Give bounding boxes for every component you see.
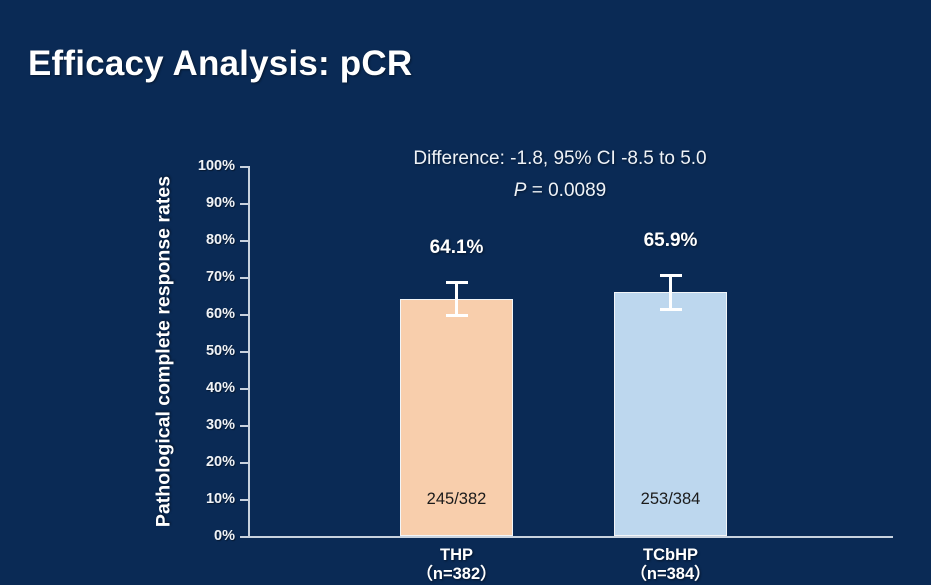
x-category-name: THP [360,546,553,565]
plot-region: 0%10%20%30%40%50%60%70%80%90%100% 245/38… [248,166,893,536]
y-tick-label: 100% [198,158,235,174]
bar-tcbhp[interactable]: 253/384 [614,292,727,536]
x-axis-line [248,536,893,538]
y-tick-mark [240,314,248,316]
error-bar-cap-upper [660,274,682,277]
y-axis-title: Pathological complete response rates [153,152,176,552]
y-tick-label: 90% [206,195,235,211]
y-tick-mark [240,536,248,538]
y-tick-label: 0% [214,528,235,544]
y-tick-mark [240,462,248,464]
y-tick-mark [240,499,248,501]
y-tick-mark [240,388,248,390]
p-value: = 0.0089 [526,180,606,201]
statistics-annotation: Difference: -1.8, 95% CI -8.5 to 5.0 P =… [345,148,775,202]
y-tick-label: 10% [206,491,235,507]
error-bar-cap-lower [446,314,468,317]
p-value-text: P = 0.0089 [345,180,775,202]
y-tick-mark [240,425,248,427]
y-tick-label: 50% [206,343,235,359]
bar-value-label-tcbhp: 65.9% [614,230,727,252]
x-category-n: （n=382） [360,565,553,584]
y-tick-mark [240,351,248,353]
error-bar-stem [455,281,458,318]
bar-count-label: 253/384 [615,490,726,509]
x-category-thp: THP（n=382） [360,546,553,585]
y-tick-label: 70% [206,269,235,285]
x-category-n: （n=384） [574,565,767,584]
y-tick-mark [240,166,248,168]
y-tick-label: 60% [206,306,235,322]
pcr-bar-chart: Pathological complete response rates 0%1… [0,0,931,585]
p-symbol: P [514,180,527,201]
y-tick-mark [240,240,248,242]
error-bar-thp [400,281,513,318]
y-tick-label: 40% [206,380,235,396]
y-axis-line [248,166,250,537]
bar-count-label: 245/382 [401,490,512,509]
x-category-name: TCbHP [574,546,767,565]
x-category-tcbhp: TCbHP（n=384） [574,546,767,585]
y-tick-mark [240,203,248,205]
error-bar-tcbhp [614,274,727,311]
y-tick-label: 20% [206,454,235,470]
error-bar-cap-lower [660,308,682,311]
error-bar-stem [669,274,672,311]
bar-thp[interactable]: 245/382 [400,299,513,536]
y-tick-label: 30% [206,417,235,433]
y-tick-label: 80% [206,232,235,248]
difference-text: Difference: -1.8, 95% CI -8.5 to 5.0 [345,148,775,170]
error-bar-cap-upper [446,281,468,284]
y-tick-mark [240,277,248,279]
bar-value-label-thp: 64.1% [400,237,513,259]
